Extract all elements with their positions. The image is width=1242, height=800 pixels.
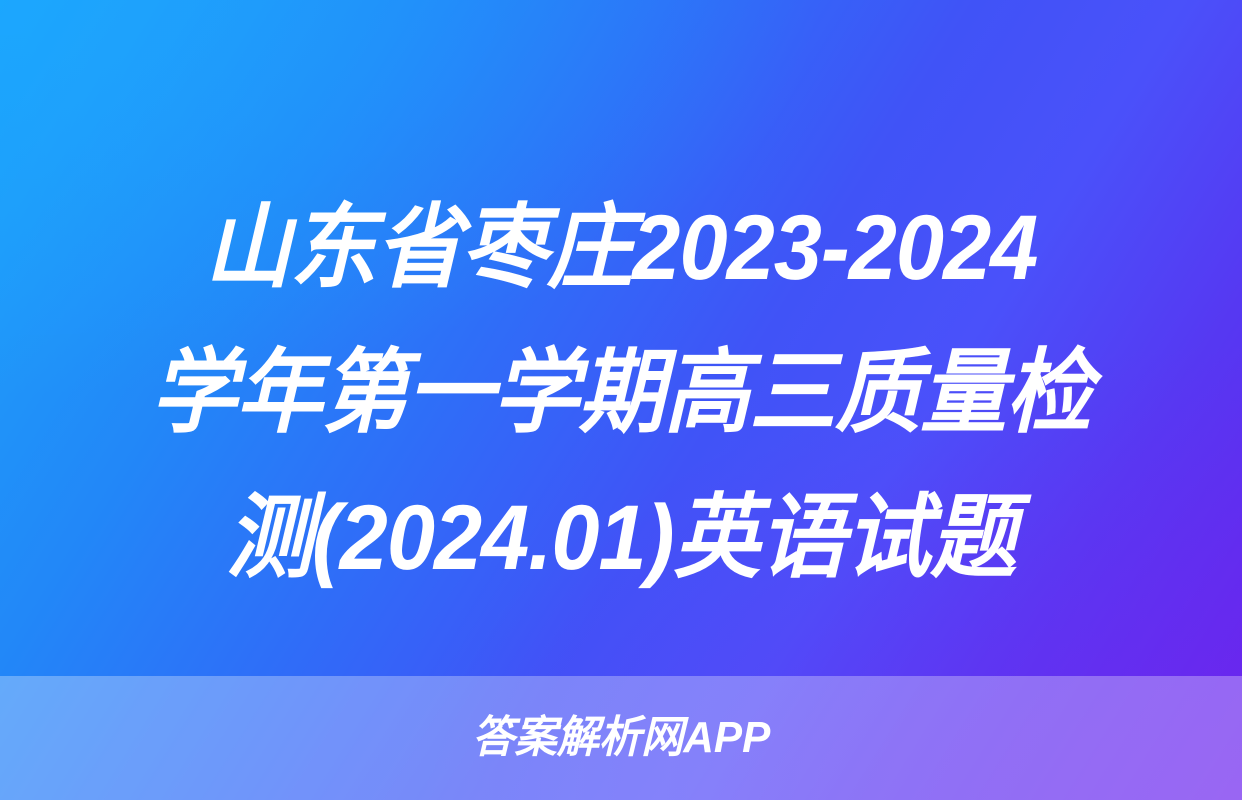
share-card: 山东省枣庄2023-2024 学年第一学期高三质量检 测(2024.01)英语试… bbox=[0, 0, 1242, 800]
page-title: 山东省枣庄2023-2024 学年第一学期高三质量检 测(2024.01)英语试… bbox=[0, 176, 1242, 611]
title-line-1: 山东省枣庄2023-2024 bbox=[75, 176, 1167, 321]
title-line-2: 学年第一学期高三质量检 bbox=[75, 321, 1167, 466]
watermark-label: 答案解析网APP bbox=[472, 714, 770, 762]
footer: 答案解析网APP bbox=[0, 676, 1242, 800]
title-line-3: 测(2024.01)英语试题 bbox=[75, 466, 1167, 611]
